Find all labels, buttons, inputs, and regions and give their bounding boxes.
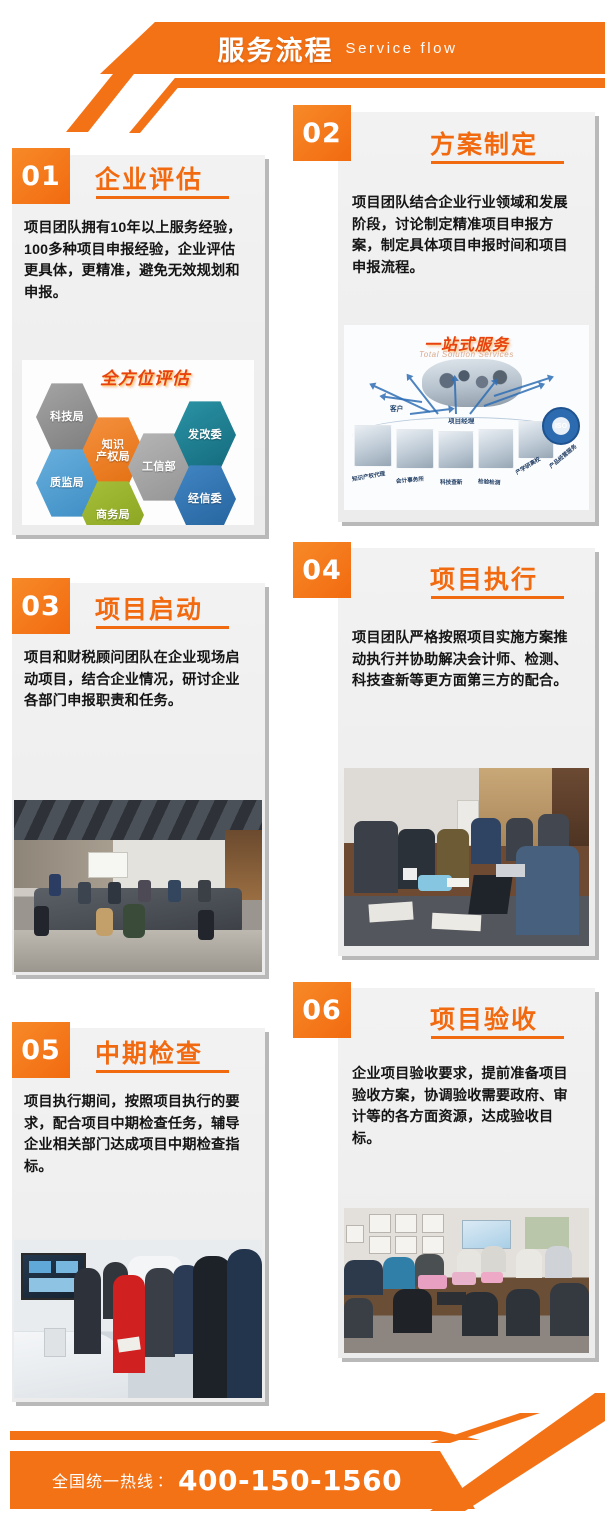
oss-node-tech-search: [438, 431, 474, 469]
step-body-02: 项目团队结合企业行业领域和发展阶段，讨论制定精准项目申报方案，制定具体项目申报时…: [352, 193, 580, 279]
step-body-06: 企业项目验收要求，提前准备项目验收方案，协调验收需要政府、审计等的各方面资源，达…: [352, 1064, 580, 1150]
photo-meeting-laptops: [344, 768, 589, 946]
oss-subtitle: Total Solution Services: [344, 350, 589, 359]
step-title-05: 中期检查: [95, 1034, 203, 1070]
hex-label: 发改委: [188, 429, 222, 441]
oss-node-ip-agency: [354, 425, 392, 467]
header-stripe: [0, 78, 605, 88]
step-badge-05: 05: [12, 1022, 70, 1078]
step-title-rule-01: [96, 196, 229, 199]
footer-stripe: [10, 1431, 595, 1440]
step-title-03: 项目启动: [95, 590, 203, 626]
oss-caption-1: 会计事务所: [396, 475, 425, 485]
hex-label: 质监局: [50, 477, 84, 489]
step-title-02: 方案制定: [430, 125, 538, 161]
hex-diagram-title: 全方位评估: [100, 364, 190, 389]
step-body-01: 项目团队拥有10年以上服务经验，100多种项目申报经验，企业评估更具体，更精准，…: [24, 218, 244, 304]
hex-label: 知识产权局: [96, 439, 130, 464]
step-media-03: [14, 800, 262, 972]
service-flow-infographic: 服务流程 Service flow 01 企业评估 项目团队拥有10年以上服务经…: [0, 0, 605, 1538]
step-title-04: 项目执行: [430, 560, 538, 596]
hex-label: 工信部: [142, 461, 176, 473]
footer-hotline-group: 全国统一热线 ： 400-150-1560: [52, 1451, 402, 1509]
oss-caption-0: 知识产权代理: [351, 469, 385, 483]
step-body-03: 项目和财税顾问团队在企业现场启动项目，结合企业情况，研讨企业各部门申报职责和任务…: [24, 648, 244, 713]
page-footer: 全国统一热线 ： 400-150-1560: [0, 1413, 605, 1538]
step-title-rule-03: [96, 626, 229, 629]
step-body-05: 项目执行期间，按照项目执行的要求，配合项目中期检查任务，辅导企业相关部门达成项目…: [24, 1092, 244, 1178]
page-title: 服务流程: [217, 29, 333, 68]
oss-node-accounting: [396, 429, 434, 469]
step-title-rule-02: [431, 161, 564, 164]
page-subtitle: Service flow: [345, 40, 457, 57]
step-body-04: 项目团队严格按照项目实施方案推动执行并协助解决会计师、检测、科技查新等更方面第三…: [352, 628, 580, 693]
step-badge-02: 02: [293, 105, 351, 161]
hex-label: 科技局: [50, 411, 84, 423]
photo-acceptance-meeting: [344, 1208, 589, 1353]
step-title-rule-06: [431, 1036, 564, 1039]
step-title-rule-04: [431, 596, 564, 599]
hotline-label: 全国统一热线: [52, 1468, 154, 1492]
step-media-05: [14, 1240, 262, 1398]
hex-label: 商务局: [96, 509, 130, 521]
step-title-06: 项目验收: [430, 1000, 538, 1036]
oss-seal-text: ISO: [555, 423, 567, 430]
oss-center-label-client: 客户: [390, 403, 403, 413]
photo-conference-room: [14, 800, 262, 972]
step-media-02: 一站式服务 Total Solution Services 客户 项目经理 IS…: [344, 325, 589, 510]
step-badge-04: 04: [293, 542, 351, 598]
photo-site-visit: [14, 1240, 262, 1398]
step-title-01: 企业评估: [95, 160, 203, 196]
hotline-number[interactable]: 400-150-1560: [178, 1464, 402, 1497]
step-media-06: [344, 1208, 589, 1353]
step-media-01: 全方位评估 科技局 知识产权局 质监局 商务局 工信部 发改委 经信委: [22, 360, 254, 525]
step-badge-06: 06: [293, 982, 351, 1038]
oss-node-inspection: [478, 429, 514, 469]
oss-iso-seal-icon: ISO: [542, 407, 580, 445]
hex-label: 经信委: [188, 493, 222, 505]
oss-center-photo: [422, 359, 522, 407]
page-header: 服务流程 Service flow: [0, 0, 605, 110]
step-badge-03: 03: [12, 578, 70, 634]
hotline-colon: ：: [157, 1470, 172, 1491]
step-title-rule-05: [96, 1070, 229, 1073]
header-title-group: 服务流程 Service flow: [0, 22, 605, 74]
step-badge-01: 01: [12, 148, 70, 204]
oss-caption-3: 检验检测: [478, 477, 501, 487]
step-media-04: [344, 768, 589, 946]
oss-caption-2: 科技查新: [440, 478, 462, 486]
